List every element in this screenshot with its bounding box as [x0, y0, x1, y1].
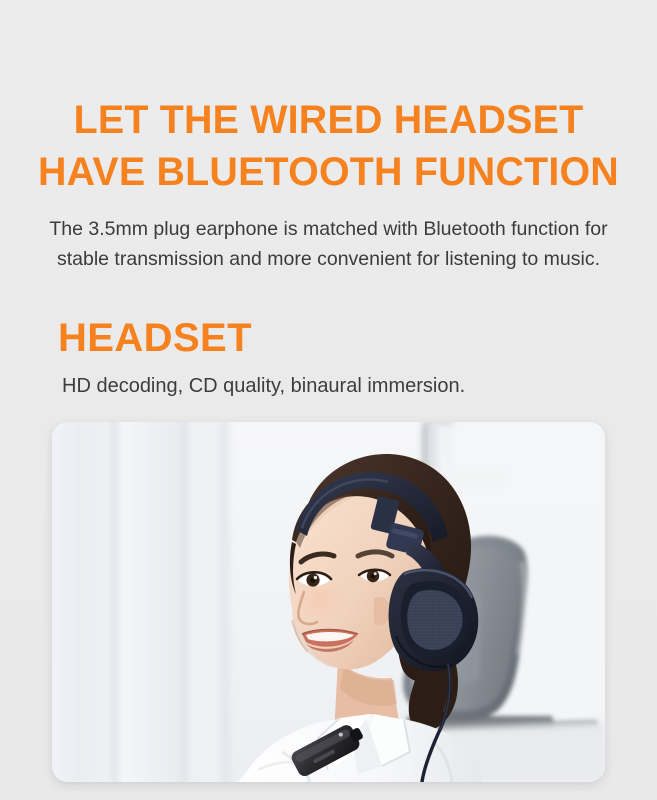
subcopy: The 3.5mm plug earphone is matched with …: [0, 214, 657, 274]
headline-line-1: LET THE WIRED HEADSET: [5, 94, 652, 146]
section-title: HEADSET: [58, 315, 252, 361]
office-partition: [52, 422, 228, 782]
product-photo-illustration: [52, 422, 605, 782]
section-subtitle: HD decoding, CD quality, binaural immers…: [62, 372, 465, 400]
ear-cup: [389, 568, 479, 671]
subcopy-line-2: stable transmission and more convenient …: [0, 244, 657, 274]
headline: LET THE WIRED HEADSET HAVE BLUETOOTH FUN…: [5, 94, 652, 198]
product-banner: LET THE WIRED HEADSET HAVE BLUETOOTH FUN…: [0, 0, 657, 800]
product-photo: [52, 422, 605, 782]
headline-line-2: HAVE BLUETOOTH FUNCTION: [5, 146, 652, 198]
subcopy-line-1: The 3.5mm plug earphone is matched with …: [0, 214, 657, 244]
